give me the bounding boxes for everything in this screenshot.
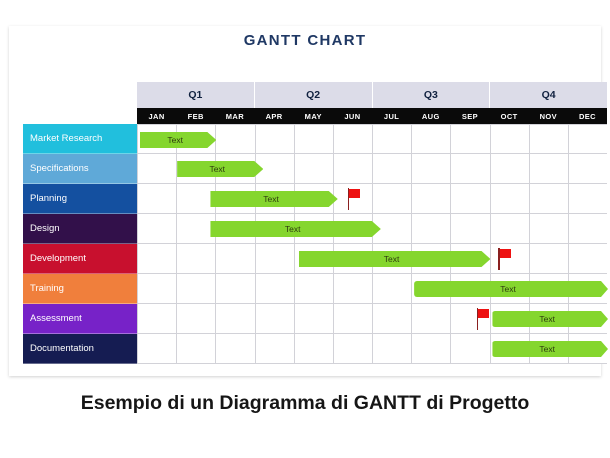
task-label-documentation[interactable]: Documentation — [23, 334, 137, 364]
flag-banner — [478, 309, 489, 318]
grid-column — [138, 214, 177, 243]
month-label: NOV — [540, 112, 557, 121]
month-header-jun: JUN — [333, 108, 372, 124]
quarter-header-q4: Q4 — [490, 82, 607, 108]
gantt-row: DocumentationText — [23, 334, 607, 364]
grid-column — [216, 274, 255, 303]
gantt-row: DesignText — [23, 214, 607, 244]
grid-column — [177, 334, 216, 363]
quarter-label: Q2 — [306, 89, 320, 101]
task-name: Assessment — [30, 313, 82, 324]
grid-column — [451, 154, 490, 183]
grid-column — [373, 304, 412, 333]
task-name: Market Research — [30, 133, 102, 144]
quarter-header-row: Q1Q2Q3Q4 — [137, 82, 607, 108]
grid-column — [412, 334, 451, 363]
month-label: JUL — [384, 112, 399, 121]
grid-column — [138, 154, 177, 183]
gantt-bar-label: Text — [263, 194, 279, 204]
grid-column — [138, 274, 177, 303]
task-name: Development — [30, 253, 86, 264]
task-label-specifications[interactable]: Specifications — [23, 154, 137, 184]
grid-column — [569, 244, 607, 273]
grid-column — [412, 154, 451, 183]
grid-column — [295, 154, 334, 183]
month-label: SEP — [462, 112, 478, 121]
gantt-row: TrainingText — [23, 274, 607, 304]
grid-column — [530, 184, 569, 213]
gantt-row: DevelopmentText — [23, 244, 607, 274]
month-header-dec: DEC — [568, 108, 607, 124]
quarter-header-q1: Q1 — [137, 82, 255, 108]
grid-column — [530, 125, 569, 153]
grid-column — [451, 214, 490, 243]
grid-column — [256, 274, 295, 303]
task-label-market-research[interactable]: Market Research — [23, 124, 137, 154]
grid-column — [295, 334, 334, 363]
gantt-bar-label: Text — [209, 164, 225, 174]
gantt-bar-label: Text — [384, 254, 400, 264]
gantt-bar[interactable]: Text — [492, 341, 608, 357]
flag-banner — [349, 189, 360, 198]
gantt-row-track: Text — [137, 214, 607, 244]
gantt-row: AssessmentText — [23, 304, 607, 334]
grid-column — [491, 184, 530, 213]
grid-column — [412, 184, 451, 213]
grid-column — [334, 154, 373, 183]
grid-column — [256, 244, 295, 273]
grid-column — [334, 304, 373, 333]
milestone-flag-icon[interactable] — [498, 248, 512, 270]
month-header-jan: JAN — [137, 108, 176, 124]
grid-column — [295, 125, 334, 153]
gantt-bar-label: Text — [167, 135, 183, 145]
month-label: MAR — [226, 112, 244, 121]
gantt-row-track: Text — [137, 304, 607, 334]
grid-column — [138, 304, 177, 333]
grid-column — [177, 244, 216, 273]
month-label: FEB — [188, 112, 204, 121]
month-label: JUN — [344, 112, 360, 121]
grid-column — [177, 304, 216, 333]
gantt-row-track: Text — [137, 184, 607, 214]
grid-column — [451, 125, 490, 153]
grid-column — [530, 244, 569, 273]
task-label-assessment[interactable]: Assessment — [23, 304, 137, 334]
grid-column — [569, 154, 607, 183]
gantt-bar-label: Text — [539, 314, 555, 324]
grid-column — [216, 304, 255, 333]
gantt-bar-label: Text — [539, 344, 555, 354]
grid-column — [334, 334, 373, 363]
month-label: MAY — [305, 112, 322, 121]
grid-column — [373, 125, 412, 153]
grid-column — [216, 125, 255, 153]
month-label: APR — [266, 112, 283, 121]
month-label: JAN — [148, 112, 164, 121]
gantt-row-track: Text — [137, 334, 607, 364]
gantt-bar-label: Text — [285, 224, 301, 234]
milestone-flag-icon[interactable] — [348, 188, 362, 210]
grid-column — [295, 304, 334, 333]
grid-column — [177, 274, 216, 303]
task-name: Design — [30, 223, 60, 234]
gantt-row-track: Text — [137, 154, 607, 184]
month-label: OCT — [501, 112, 518, 121]
gantt-row-track: Text — [137, 244, 607, 274]
month-header-nov: NOV — [529, 108, 568, 124]
task-name: Training — [30, 283, 64, 294]
grid-column — [530, 214, 569, 243]
grid-column — [569, 125, 607, 153]
milestone-flag-icon[interactable] — [477, 308, 491, 330]
gantt-bar[interactable]: Text — [299, 251, 491, 267]
month-header-row: JANFEBMARAPRMAYJUNJULAUGSEPOCTNOVDEC — [137, 108, 607, 124]
grid-column — [138, 244, 177, 273]
grid-column — [569, 214, 607, 243]
task-label-development[interactable]: Development — [23, 244, 137, 274]
gantt-bar[interactable]: Text — [177, 161, 263, 177]
grid-column — [373, 154, 412, 183]
grid-column — [412, 125, 451, 153]
grid-column — [334, 274, 373, 303]
quarter-label: Q1 — [188, 89, 202, 101]
quarter-label: Q4 — [542, 89, 556, 101]
gantt-bar[interactable]: Text — [492, 311, 608, 327]
month-header-mar: MAR — [215, 108, 254, 124]
grid-column — [216, 244, 255, 273]
grid-column — [569, 184, 607, 213]
grid-column — [138, 184, 177, 213]
task-name: Documentation — [30, 343, 94, 354]
month-header-apr: APR — [255, 108, 294, 124]
gantt-row: PlanningText — [23, 184, 607, 214]
grid-column — [491, 154, 530, 183]
gantt-row-track: Text — [137, 274, 607, 304]
grid-column — [373, 184, 412, 213]
grid-column — [295, 274, 334, 303]
gantt-bar[interactable]: Text — [210, 191, 337, 207]
gantt-grid: Market ResearchTextSpecificationsTextPla… — [23, 124, 607, 364]
gantt-bar[interactable]: Text — [414, 281, 608, 297]
gantt-bar-label: Text — [500, 284, 516, 294]
grid-column — [216, 334, 255, 363]
gantt-chart-card: GANTT CHART Q1Q2Q3Q4 JANFEBMARAPRMAYJUNJ… — [9, 26, 601, 376]
page-title: GANTT CHART — [9, 32, 601, 49]
grid-column — [530, 154, 569, 183]
gantt-row: SpecificationsText — [23, 154, 607, 184]
figure-caption: Esempio di un Diagramma di GANTT di Prog… — [0, 392, 610, 415]
grid-column — [373, 274, 412, 303]
grid-column — [334, 125, 373, 153]
grid-column — [256, 125, 295, 153]
gantt-row-track: Text — [137, 124, 607, 154]
month-header-aug: AUG — [411, 108, 450, 124]
month-header-jul: JUL — [372, 108, 411, 124]
month-label: AUG — [422, 112, 440, 121]
quarter-label: Q3 — [424, 89, 438, 101]
month-header-sep: SEP — [450, 108, 489, 124]
quarter-header-q3: Q3 — [373, 82, 491, 108]
gantt-row: Market ResearchText — [23, 124, 607, 154]
flag-banner — [500, 249, 511, 258]
grid-column — [451, 184, 490, 213]
grid-column — [412, 214, 451, 243]
task-label-training[interactable]: Training — [23, 274, 137, 304]
grid-column — [373, 334, 412, 363]
quarter-header-q2: Q2 — [255, 82, 373, 108]
grid-column — [491, 214, 530, 243]
grid-column — [256, 304, 295, 333]
gantt-bar[interactable]: Text — [140, 132, 216, 148]
grid-column — [491, 125, 530, 153]
gantt-bar[interactable]: Text — [210, 221, 380, 237]
task-label-design[interactable]: Design — [23, 214, 137, 244]
task-label-planning[interactable]: Planning — [23, 184, 137, 214]
grid-column — [451, 334, 490, 363]
month-header-may: MAY — [294, 108, 333, 124]
month-header-feb: FEB — [176, 108, 215, 124]
month-label: DEC — [579, 112, 596, 121]
month-header-oct: OCT — [490, 108, 529, 124]
grid-column — [256, 334, 295, 363]
grid-column — [412, 304, 451, 333]
task-name: Specifications — [30, 163, 89, 174]
task-name: Planning — [30, 193, 67, 204]
grid-column — [138, 334, 177, 363]
grid-lines — [138, 184, 607, 213]
